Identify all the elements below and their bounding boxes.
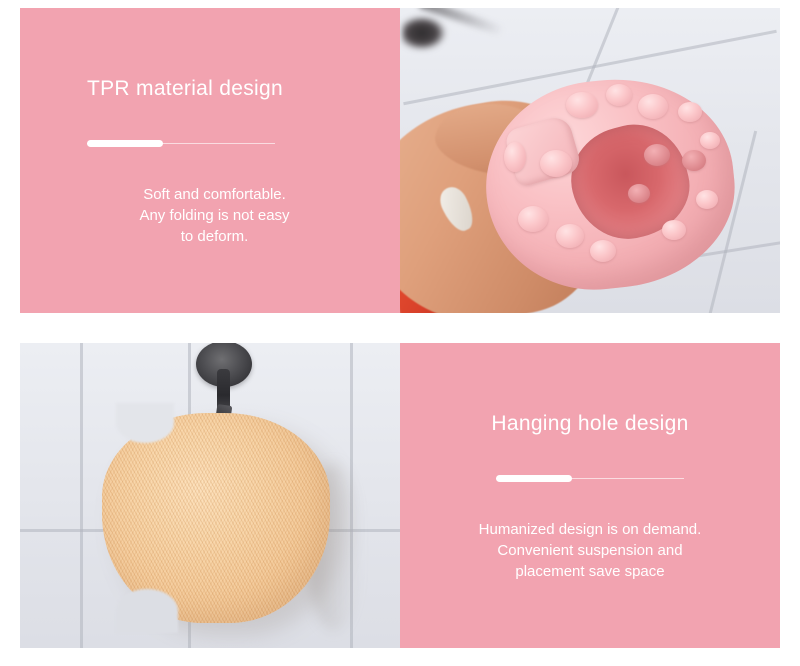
feature-body-line: to deform. xyxy=(85,226,344,247)
brush-nub xyxy=(678,102,702,122)
scrubber-top-notch xyxy=(116,403,174,443)
feature-panel-tpr-material-design: TPR material design Soft and comfortable… xyxy=(20,8,780,313)
brush-nub xyxy=(682,150,706,171)
brush-nub xyxy=(628,184,650,203)
feature-copy-block: TPR material design Soft and comfortable… xyxy=(20,8,400,313)
brush-nub xyxy=(606,84,632,106)
feature-panel-hanging-hole-design: Hanging hole design Humanized design is … xyxy=(20,343,780,648)
brush-nub xyxy=(518,206,548,232)
feature-body: Humanized design is on demand. Convenien… xyxy=(452,519,728,583)
product-photo-hand-squeezing-brush xyxy=(400,8,780,313)
brush-nub xyxy=(566,92,598,118)
feature-title: Hanging hole design xyxy=(452,411,728,436)
feature-body-line: Any folding is not easy xyxy=(85,205,344,226)
feature-copy-block: Hanging hole design Humanized design is … xyxy=(400,343,780,648)
product-photo-scrubber-on-hook xyxy=(20,343,400,648)
feature-body-line: Soft and comfortable. xyxy=(85,184,344,205)
feature-body-line: Convenient suspension and xyxy=(452,540,728,561)
feature-title: TPR material design xyxy=(87,76,358,101)
feature-body-line: placement save space xyxy=(452,561,728,582)
feature-body-line: Humanized design is on demand. xyxy=(452,519,728,540)
grout-line xyxy=(80,343,83,648)
brush-nub xyxy=(556,224,584,248)
blurred-dark-object xyxy=(402,16,446,50)
title-divider xyxy=(496,475,684,482)
brush-nub xyxy=(662,220,686,240)
brush-nub xyxy=(504,142,526,172)
brush-nub xyxy=(700,132,720,149)
brush-nub xyxy=(590,240,616,262)
feature-body: Soft and comfortable. Any folding is not… xyxy=(85,184,358,248)
divider-stub xyxy=(87,140,163,147)
brush-nub xyxy=(638,94,668,119)
divider-stub xyxy=(496,475,572,482)
product-feature-page: TPR material design Soft and comfortable… xyxy=(0,0,800,666)
scrubber-bottom-notch xyxy=(116,589,178,633)
brush-nub xyxy=(644,144,670,166)
brush-nub xyxy=(540,150,572,177)
brush-nub xyxy=(696,190,718,209)
title-divider xyxy=(87,140,275,147)
